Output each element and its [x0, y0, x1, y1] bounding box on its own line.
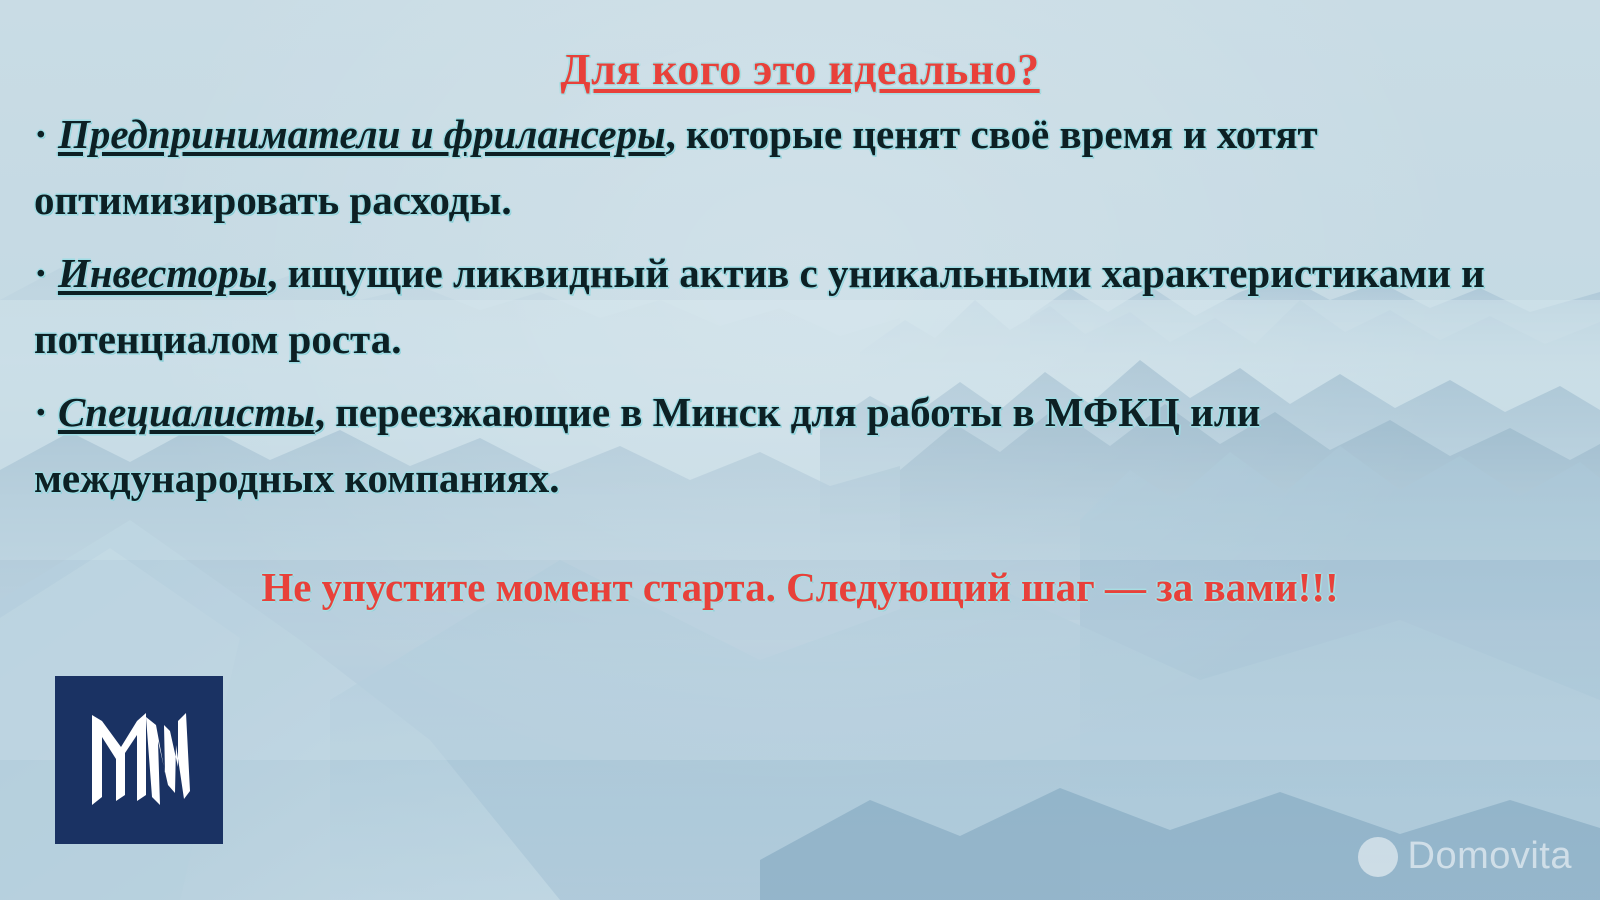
bullet-marker-2: ·	[34, 250, 48, 296]
slide-canvas: Для кого это идеально? · Предприниматели…	[0, 0, 1600, 900]
domovita-watermark: Domovita	[1358, 835, 1573, 878]
bullet-lead-2: Инвесторы	[58, 250, 267, 296]
brand-logo	[55, 676, 223, 844]
mw-monogram-icon	[80, 701, 198, 819]
bullet-item-2: · Инвесторы, ищущие ликвидный актив с ун…	[0, 240, 1600, 373]
bullet-marker-3: ·	[34, 389, 48, 435]
domovita-watermark-label: Domovita	[1408, 835, 1573, 878]
bullet-marker-1: ·	[34, 111, 48, 157]
bullet-item-1: · Предприниматели и фрилансеры, которые …	[0, 101, 1600, 234]
bullet-lead-1: Предприниматели и фрилансеры	[58, 111, 666, 157]
bullet-item-3: · Специалисты, переезжающие в Минск для …	[0, 379, 1600, 512]
bullet-lead-3: Специалисты	[58, 389, 315, 435]
slide-content: Для кого это идеально? · Предприниматели…	[0, 0, 1600, 611]
call-to-action-text: Не упустите момент старта. Следующий шаг…	[0, 563, 1600, 611]
page-title: Для кого это идеально?	[0, 44, 1600, 95]
domovita-circle-icon	[1358, 837, 1398, 877]
